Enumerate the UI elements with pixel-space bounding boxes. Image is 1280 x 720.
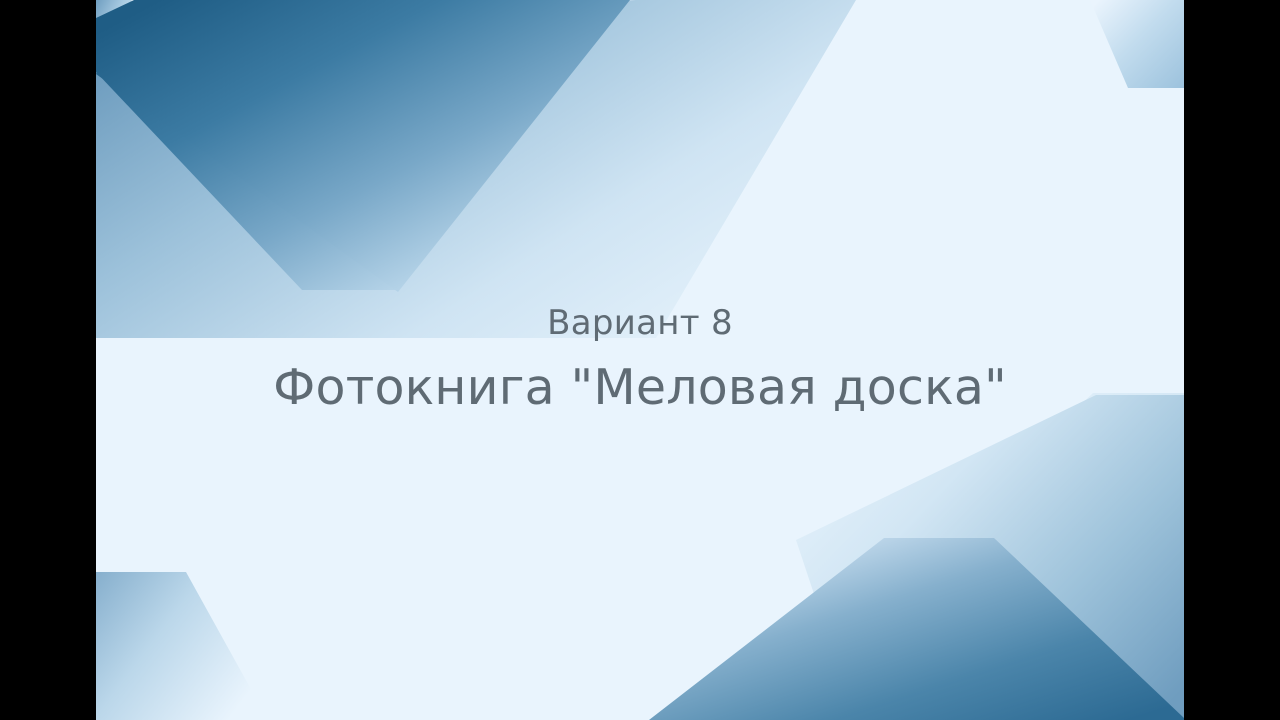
- letterbox-bar-right: [1184, 0, 1280, 720]
- deco-top-right-wedge: [1090, 0, 1184, 88]
- presentation-slide: Вариант 8 Фотокнига "Меловая доска": [96, 0, 1184, 720]
- letterbox-bar-left: [0, 0, 96, 720]
- screen-root: Вариант 8 Фотокнига "Меловая доска": [0, 0, 1280, 720]
- decorative-geometry: [96, 0, 1184, 720]
